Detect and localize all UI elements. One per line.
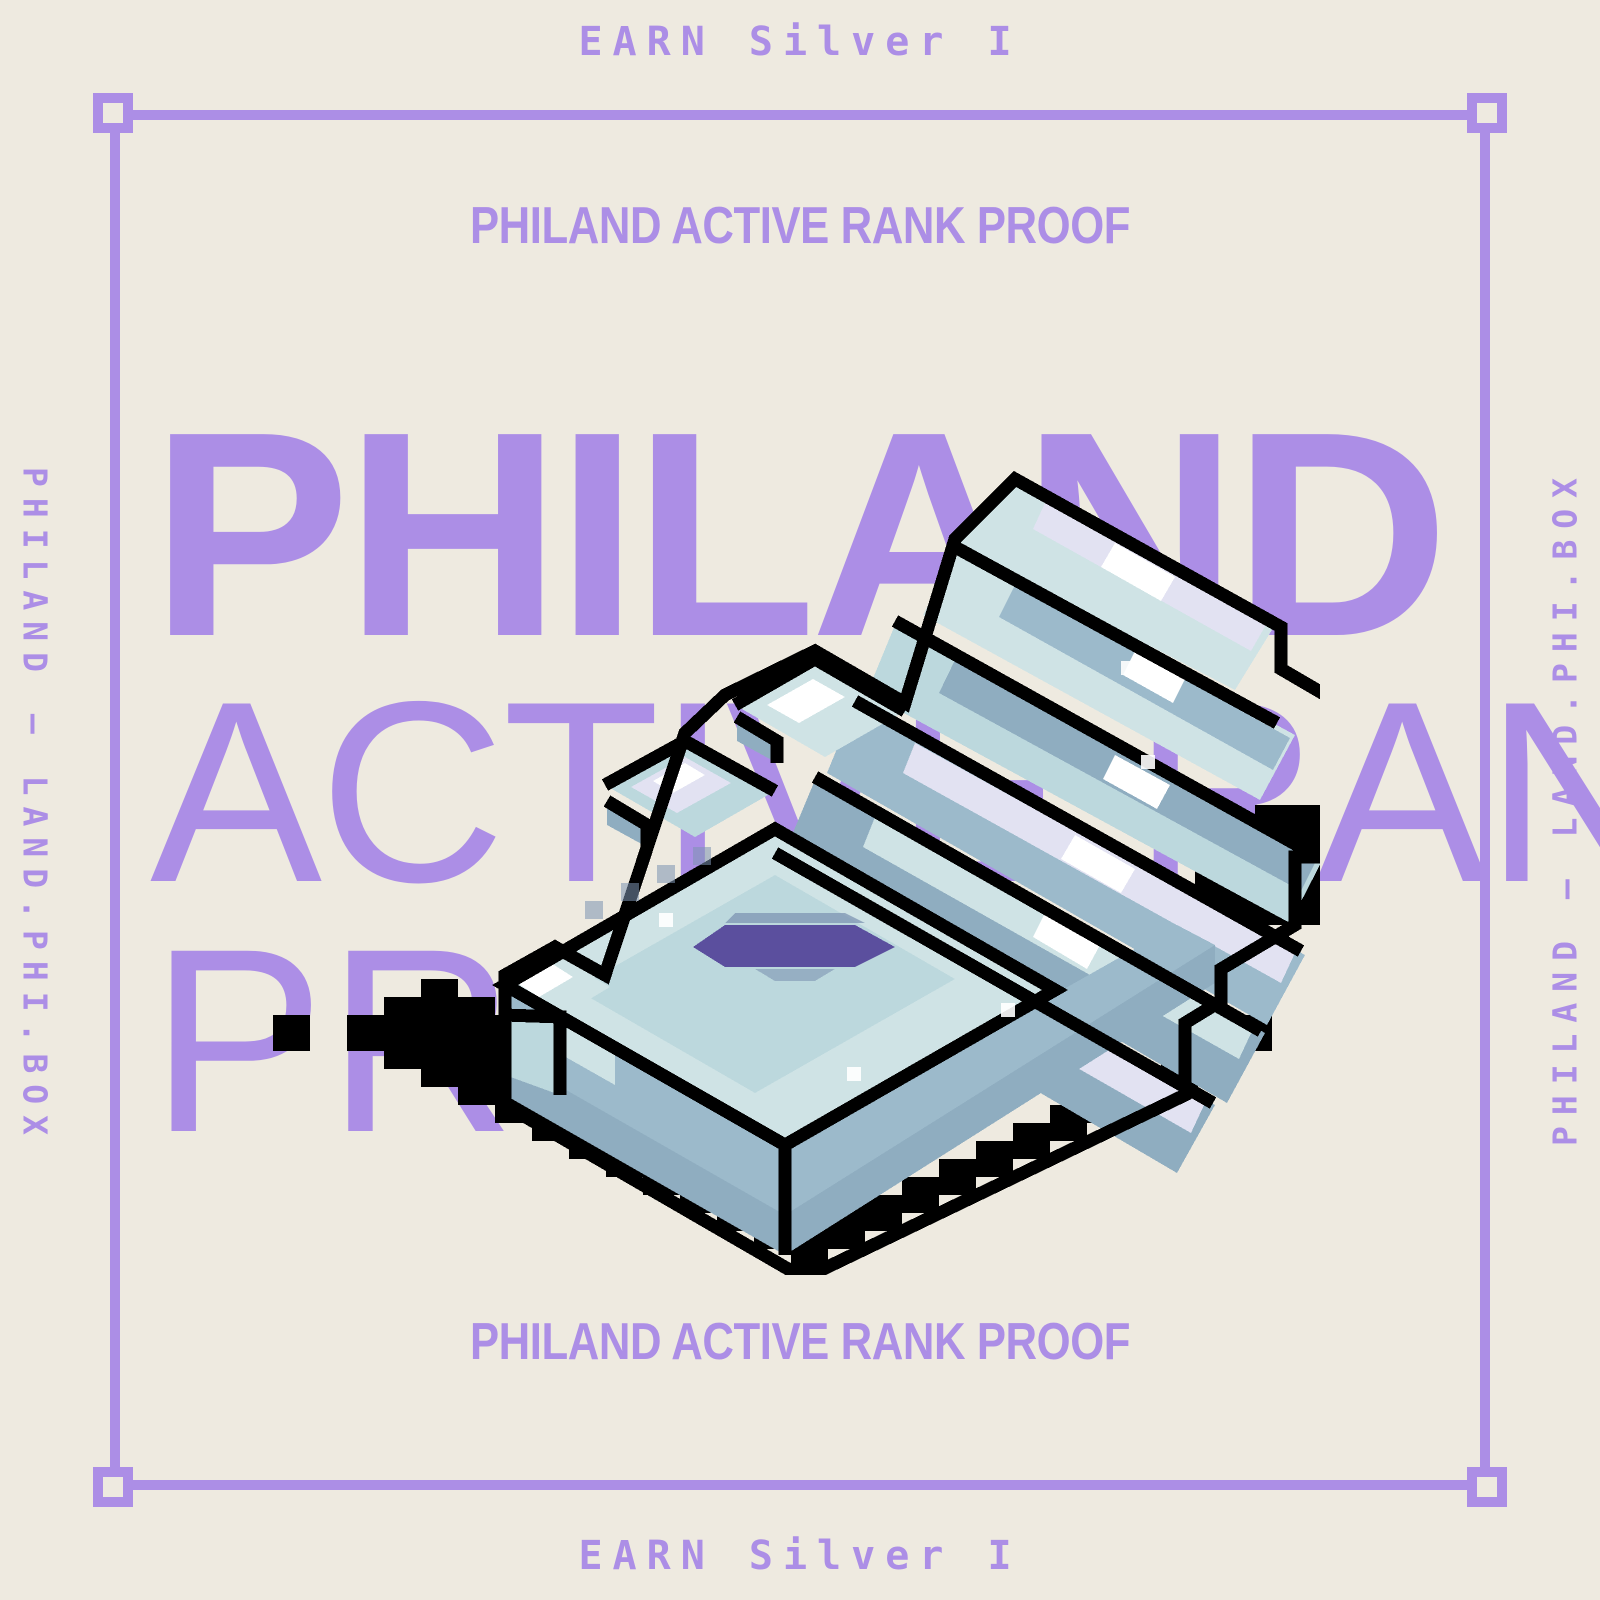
corner-marker-top-right [1467,93,1507,133]
strap-left-text: PHILAND — LAND.PHI.BOX [19,467,52,1147]
corner-marker-bottom-left [93,1467,133,1507]
ingot-stamp-mark [693,925,895,967]
caption-bottom: PHILAND ACTIVE RANK PROOF [128,1312,1472,1372]
strap-bottom-text: EARN Silver I [0,1536,1600,1576]
corner-marker-bottom-right [1467,1467,1507,1507]
silver-ingot-artwork [255,455,1320,1275]
strap-top-text: EARN Silver I [0,22,1600,62]
ingot-top-notch [605,741,775,847]
silver-ingot-icon [255,455,1320,1275]
rank-proof-card: EARN Silver I EARN Silver I PHILAND — LA… [0,0,1600,1600]
corner-marker-top-left [93,93,133,133]
caption-top: PHILAND ACTIVE RANK PROOF [128,196,1472,256]
